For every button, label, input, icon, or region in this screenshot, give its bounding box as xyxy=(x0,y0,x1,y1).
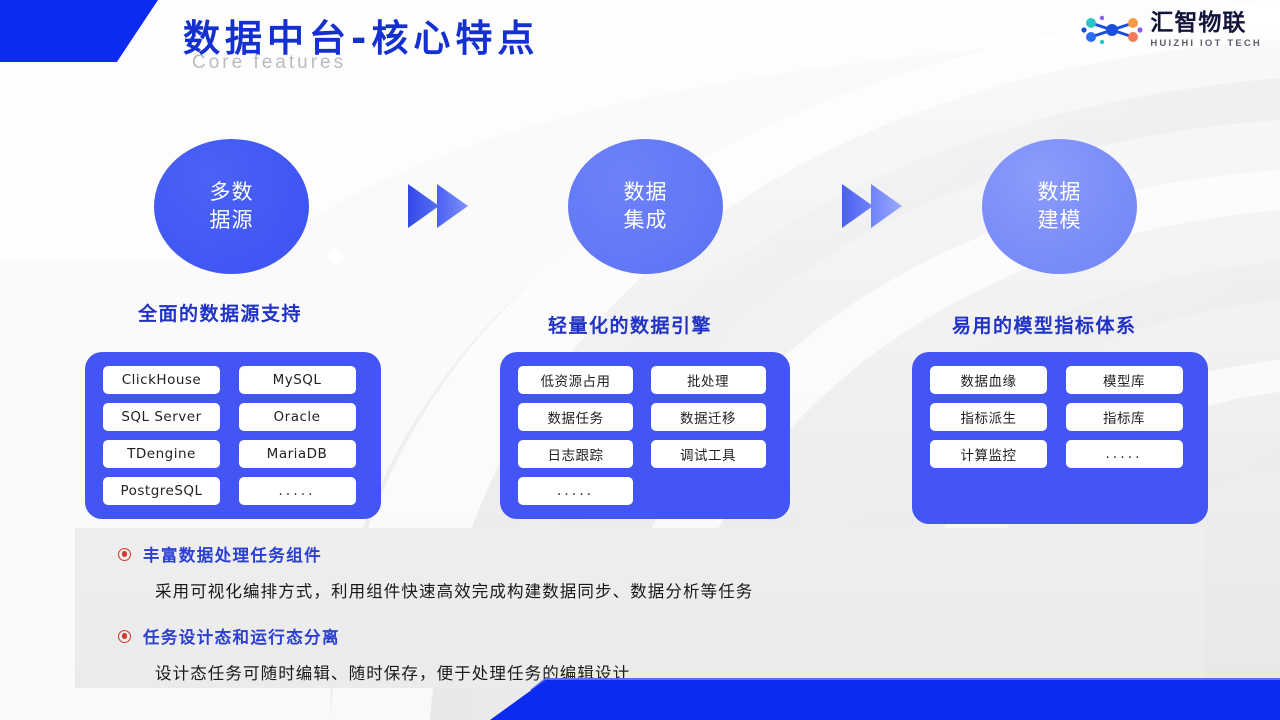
note-1-body: 采用可视化编排方式，利用组件快速高效完成构建数据同步、数据分析等任务 xyxy=(155,578,753,602)
flow-circle-1-line2: 据源 xyxy=(210,207,254,235)
tag-item[interactable]: 指标派生 xyxy=(930,403,1047,431)
radio-bullet-icon xyxy=(118,630,131,643)
flow-circle-2-line1: 数据 xyxy=(624,179,668,207)
tag-item[interactable]: 批处理 xyxy=(651,366,766,394)
double-chevron-right-icon-2 xyxy=(840,178,910,234)
flow-circle-data-modeling: 数据 建模 xyxy=(982,139,1137,274)
tag-item[interactable]: 调试工具 xyxy=(651,440,766,468)
flow-circle-data-integration: 数据 集成 xyxy=(568,139,723,274)
brand-logo-text: 汇智物联 HUIZHI IOT TECH xyxy=(1150,12,1262,49)
note-2-heading: 任务设计态和运行态分离 xyxy=(143,624,340,648)
tag-item[interactable]: TDengine xyxy=(103,440,220,468)
note-1-heading: 丰富数据处理任务组件 xyxy=(143,542,322,566)
tag-item[interactable]: 日志跟踪 xyxy=(518,440,633,468)
stage-caption-engine: 轻量化的数据引擎 xyxy=(548,311,712,338)
brand-logo: 汇智物联 HUIZHI IOT TECH xyxy=(1081,12,1262,49)
note-item-1: 丰富数据处理任务组件 采用可视化编排方式，利用组件快速高效完成构建数据同步、数据… xyxy=(118,542,753,602)
tag-item[interactable]: MariaDB xyxy=(239,440,356,468)
tag-item[interactable]: Oracle xyxy=(239,403,356,431)
note-2-heading-row: 任务设计态和运行态分离 xyxy=(118,624,630,648)
flow-circle-3-line1: 数据 xyxy=(1038,179,1082,207)
brand-name-cn: 汇智物联 xyxy=(1150,12,1246,35)
tag-panel-model: 数据血缘 模型库 指标派生 指标库 计算监控 ..... xyxy=(912,352,1208,524)
flow-circle-3-line2: 建模 xyxy=(1038,207,1082,235)
stage-caption-datasource: 全面的数据源支持 xyxy=(138,299,302,326)
tag-item[interactable]: ClickHouse xyxy=(103,366,220,394)
tag-item[interactable]: SQL Server xyxy=(103,403,220,431)
note-item-2: 任务设计态和运行态分离 设计态任务可随时编辑、随时保存，便于处理任务的编辑设计 xyxy=(118,624,630,684)
tag-item-more[interactable]: ..... xyxy=(518,477,633,505)
tag-item-placeholder xyxy=(651,477,766,505)
brand-name-en: HUIZHI IOT TECH xyxy=(1150,39,1262,49)
decorative-dot xyxy=(328,249,343,264)
tag-item-more[interactable]: ..... xyxy=(239,477,356,505)
radio-bullet-icon xyxy=(118,548,131,561)
notes-panel: 丰富数据处理任务组件 采用可视化编排方式，利用组件快速高效完成构建数据同步、数据… xyxy=(75,528,1205,688)
tag-panel-engine: 低资源占用 批处理 数据任务 数据迁移 日志跟踪 调试工具 ..... xyxy=(500,352,790,519)
tag-item[interactable]: 模型库 xyxy=(1066,366,1183,394)
tag-item[interactable]: 计算监控 xyxy=(930,440,1047,468)
tag-item[interactable]: MySQL xyxy=(239,366,356,394)
note-1-heading-row: 丰富数据处理任务组件 xyxy=(118,542,753,566)
flow-circle-2-line2: 集成 xyxy=(624,207,668,235)
double-chevron-right-icon xyxy=(406,178,476,234)
flow-circle-1-line1: 多数 xyxy=(210,179,254,207)
stage-caption-model: 易用的模型指标体系 xyxy=(952,311,1137,338)
slide-header: 数据中台-核心特点 Core features 汇智物联 HUIZHI xyxy=(0,0,1280,80)
tag-item[interactable]: 低资源占用 xyxy=(518,366,633,394)
tag-item[interactable]: 指标库 xyxy=(1066,403,1183,431)
page-subtitle: Core features xyxy=(192,52,346,74)
tag-item[interactable]: 数据任务 xyxy=(518,403,633,431)
corner-accent-bottom-right xyxy=(490,680,1280,720)
molecule-network-icon xyxy=(1081,12,1143,48)
flow-circle-multi-datasource: 多数 据源 xyxy=(154,139,309,274)
tag-item[interactable]: PostgreSQL xyxy=(103,477,220,505)
tag-item[interactable]: 数据血缘 xyxy=(930,366,1047,394)
tag-panel-datasource: ClickHouse MySQL SQL Server Oracle TDeng… xyxy=(85,352,381,519)
slide-canvas: 数据中台-核心特点 Core features 汇智物联 HUIZHI xyxy=(0,0,1280,720)
tag-item-more[interactable]: ..... xyxy=(1066,440,1183,468)
tag-item[interactable]: 数据迁移 xyxy=(651,403,766,431)
